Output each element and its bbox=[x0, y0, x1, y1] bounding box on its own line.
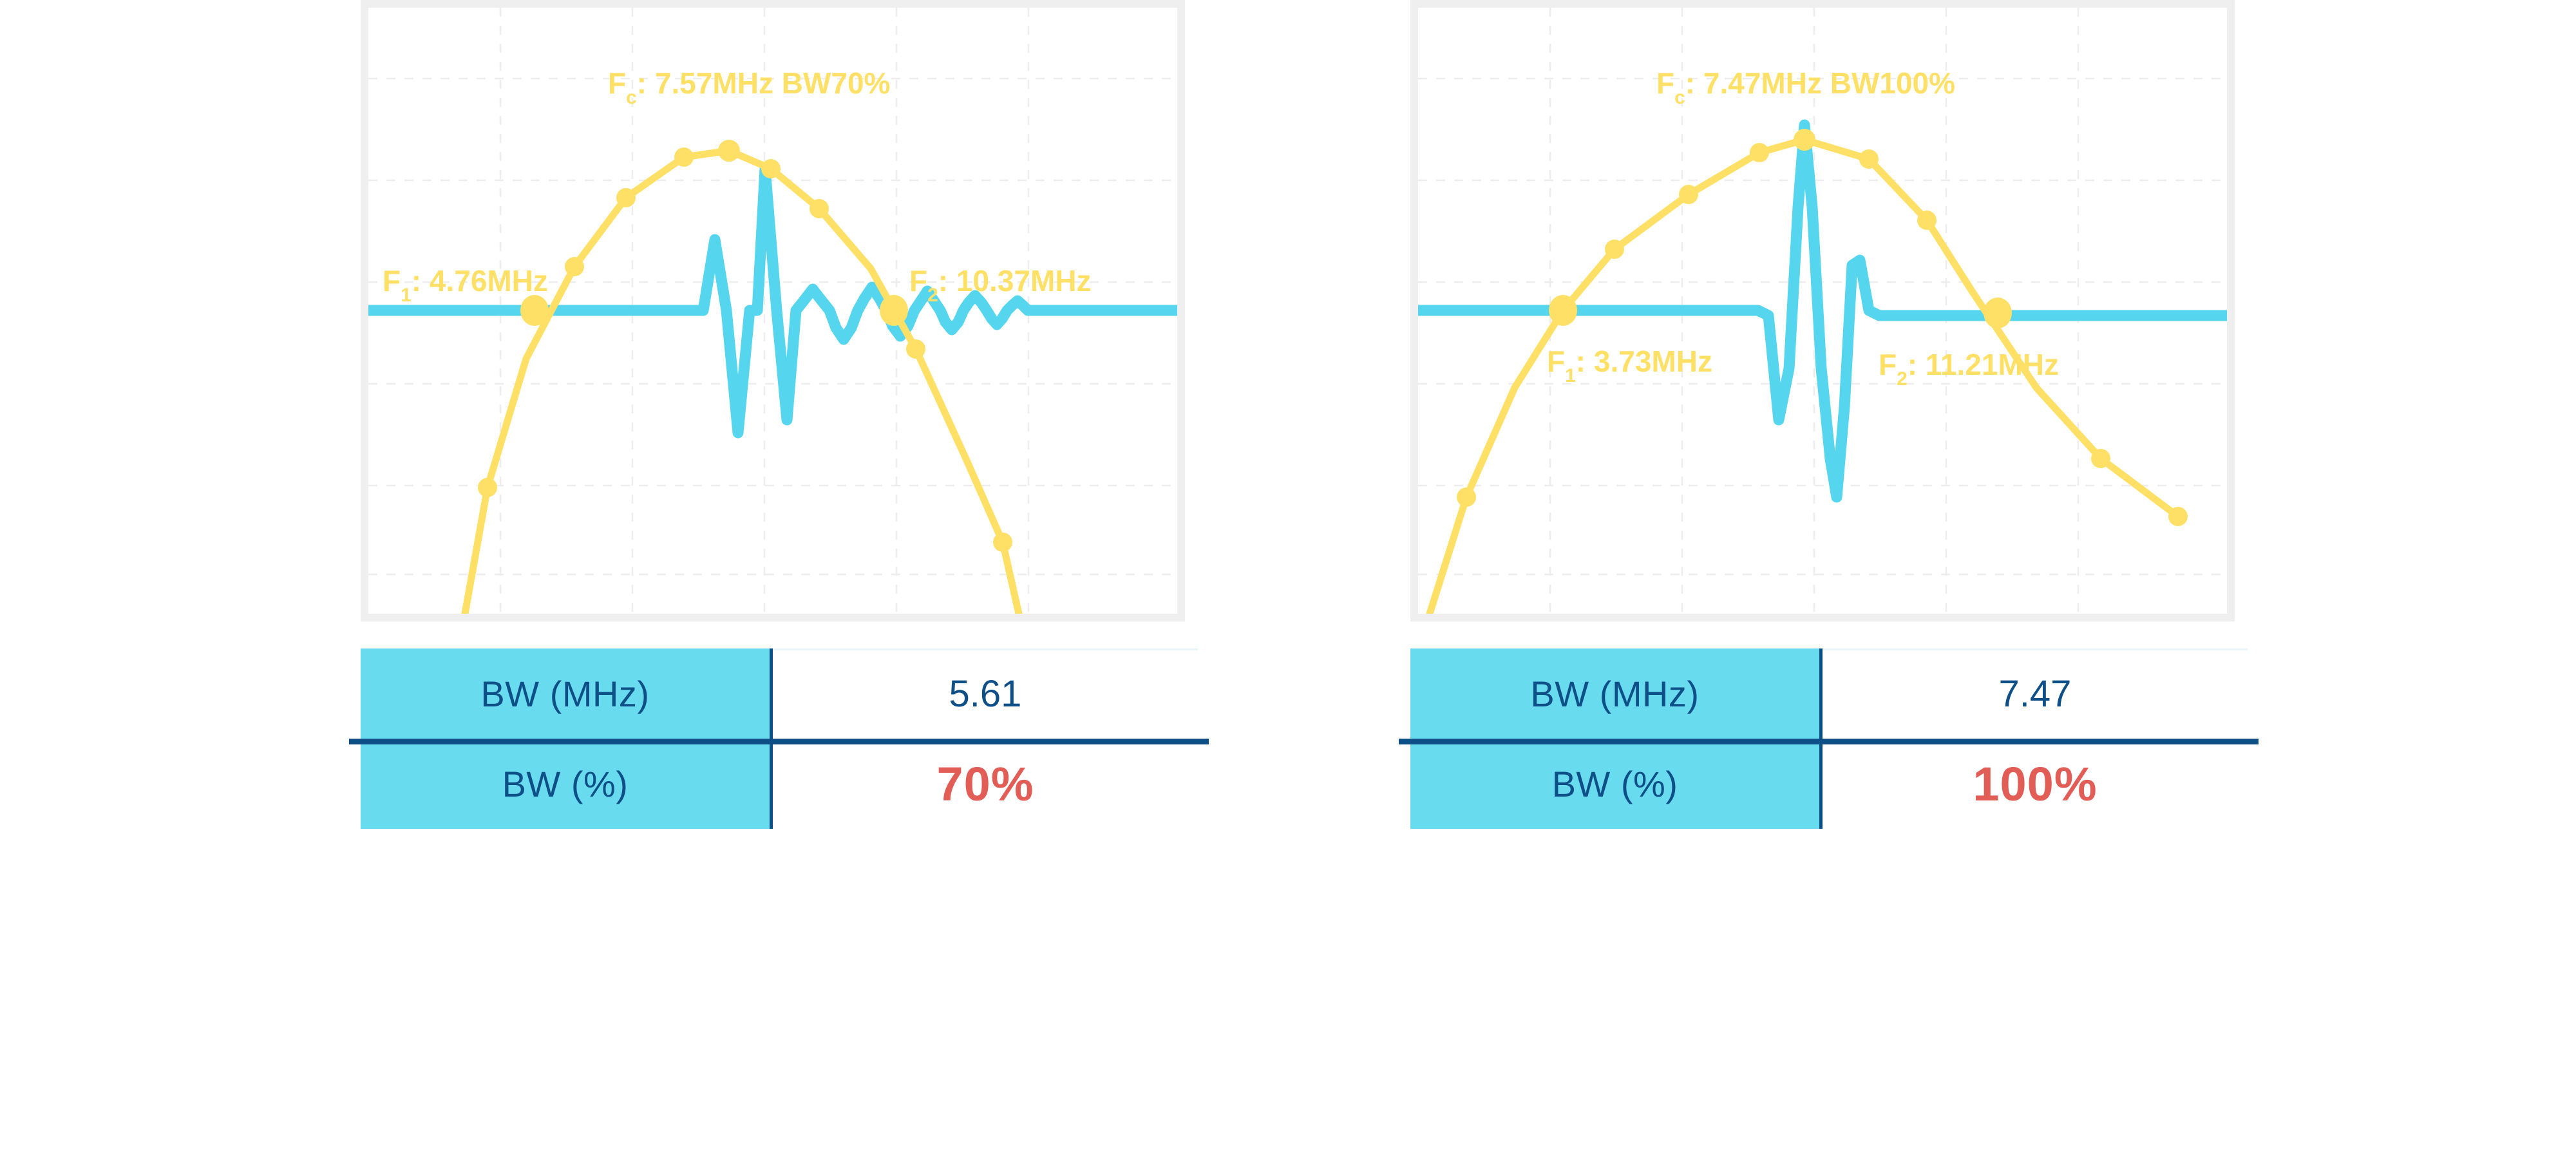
table-header-bw-mhz-right: BW (MHz) bbox=[1410, 648, 1823, 739]
bw-table-right: BW (MHz) 7.47 BW (%) 100% bbox=[1410, 648, 2248, 829]
f1-text-left: : 4.76MHz bbox=[412, 264, 548, 298]
panel-left: Fc: 7.57MHz BW70% F1: 4.76MHz F2: 10.37M… bbox=[361, 0, 1198, 829]
table-value-cell-bw-pct-left: 70% bbox=[773, 739, 1198, 829]
f1-subscript-right: 1 bbox=[1565, 365, 1576, 386]
annotation-fc-left: Fc: 7.57MHz BW70% bbox=[608, 66, 890, 108]
f1-subscript-left: 1 bbox=[401, 285, 412, 306]
chart-right: Fc: 7.47MHz BW100% F1: 3.73MHz F2: 11.21… bbox=[1410, 0, 2235, 621]
table-row: BW (%) 70% bbox=[361, 739, 1198, 829]
f2-subscript-left: 2 bbox=[927, 285, 938, 306]
table-row: BW (%) 100% bbox=[1410, 739, 2248, 829]
table-value-cell-bw-mhz-right: 7.47 bbox=[1823, 648, 2248, 739]
f1-symbol-left: F bbox=[383, 264, 401, 298]
spectrum-curve-right bbox=[1430, 140, 2178, 614]
f2-symbol-left: F bbox=[909, 264, 927, 298]
bw-mhz-value-left: 5.61 bbox=[949, 672, 1022, 715]
fc-subscript-right: c bbox=[1674, 87, 1685, 108]
bw-table-left: BW (MHz) 5.61 BW (%) 70% bbox=[361, 648, 1198, 829]
marker-f1-right bbox=[1549, 295, 1577, 326]
f2-symbol-right: F bbox=[1879, 348, 1897, 381]
pulse-waveform-left bbox=[368, 169, 1177, 433]
table-header-bw-pct-left: BW (%) bbox=[361, 739, 773, 829]
annotation-f1-right: F1: 3.73MHz bbox=[1547, 345, 1712, 386]
table-divider-left bbox=[349, 739, 1209, 744]
table-header-bw-pct-right: BW (%) bbox=[1410, 739, 1823, 829]
f2-text-left: : 10.37MHz bbox=[938, 264, 1092, 298]
fc-symbol-left: F bbox=[608, 66, 626, 100]
table-row: BW (MHz) 7.47 bbox=[1410, 648, 2248, 739]
table-row: BW (MHz) 5.61 bbox=[361, 648, 1198, 739]
f2-subscript-right: 2 bbox=[1897, 368, 1908, 390]
bw-pct-value-right: 100% bbox=[1973, 757, 2097, 811]
charts-container: Fc: 7.57MHz BW70% F1: 4.76MHz F2: 10.37M… bbox=[0, 0, 2576, 1154]
table-header-bw-mhz-left: BW (MHz) bbox=[361, 648, 773, 739]
annotation-f2-left: F2: 10.37MHz bbox=[909, 264, 1092, 306]
table-value-cell-bw-mhz-left: 5.61 bbox=[773, 648, 1198, 739]
f2-text-right: : 11.21MHz bbox=[1908, 348, 2059, 381]
marker-f1-left bbox=[520, 295, 549, 326]
annotation-f1-left: F1: 4.76MHz bbox=[383, 264, 548, 306]
fc-text-right: : 7.47MHz BW100% bbox=[1685, 66, 1955, 100]
f1-symbol-right: F bbox=[1547, 345, 1565, 378]
bw-pct-value-left: 70% bbox=[936, 757, 1034, 811]
bw-mhz-value-right: 7.47 bbox=[1999, 672, 2072, 715]
table-divider-right bbox=[1399, 739, 2259, 744]
fc-text-left: : 7.57MHz BW70% bbox=[637, 66, 891, 100]
fc-symbol-right: F bbox=[1656, 66, 1674, 100]
panel-right: Fc: 7.47MHz BW100% F1: 3.73MHz F2: 11.21… bbox=[1410, 0, 2248, 829]
marker-f2-right bbox=[1984, 298, 2012, 328]
chart-left: Fc: 7.57MHz BW70% F1: 4.76MHz F2: 10.37M… bbox=[361, 0, 1185, 621]
table-value-cell-bw-pct-right: 100% bbox=[1823, 739, 2248, 829]
annotation-fc-right: Fc: 7.47MHz BW100% bbox=[1656, 66, 1955, 108]
marker-f2-left bbox=[880, 295, 908, 326]
fc-subscript-left: c bbox=[626, 87, 637, 108]
chart-left-canvas: Fc: 7.57MHz BW70% F1: 4.76MHz F2: 10.37M… bbox=[368, 8, 1177, 614]
chart-right-canvas: Fc: 7.47MHz BW100% F1: 3.73MHz F2: 11.21… bbox=[1418, 8, 2227, 614]
f1-text-right: : 3.73MHz bbox=[1576, 345, 1712, 378]
